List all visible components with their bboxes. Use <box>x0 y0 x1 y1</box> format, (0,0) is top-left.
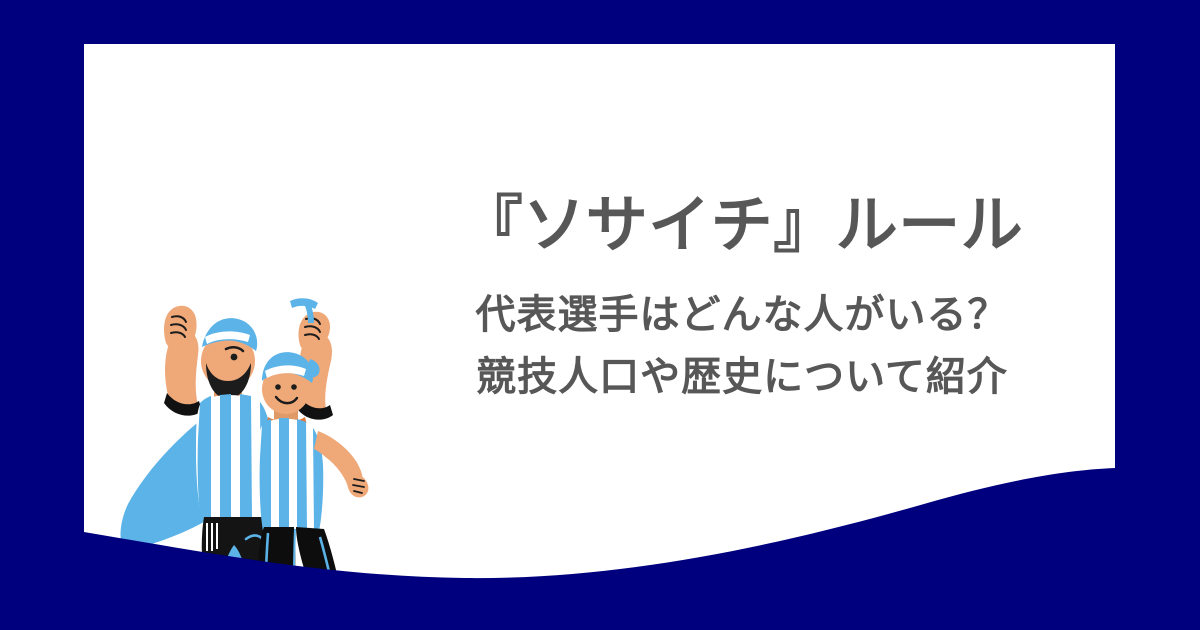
left-fan-eye <box>231 354 238 361</box>
subtitle-line-1: 代表選手はどんな人がいる？ <box>372 284 1112 346</box>
banner-root: 『ソサイチ』ルール 代表選手はどんな人がいる？ 競技人口や歴史について紹介 <box>0 0 1200 630</box>
right-fan-pants-left <box>257 527 296 586</box>
subtitle-line-2: 競技人口や歴史について紹介 <box>372 346 1112 408</box>
right-fan-eye-right <box>291 384 297 390</box>
right-fan-pants-right <box>296 527 346 586</box>
white-content-panel: 『ソサイチ』ルール 代表選手はどんな人がいる？ 競技人口や歴史について紹介 <box>84 44 1115 586</box>
left-fan-leg-back <box>172 571 226 586</box>
fans-illustration <box>106 289 396 586</box>
fans-illustration-svg <box>106 289 406 586</box>
text-block: 『ソサイチ』ルール 代表選手はどんな人がいる？ 競技人口や歴史について紹介 <box>372 44 1112 586</box>
page-subtitle: 代表選手はどんな人がいる？ 競技人口や歴史について紹介 <box>372 284 1112 408</box>
rattle-noisemaker <box>290 298 318 309</box>
right-fan-eye-left <box>275 384 281 390</box>
page-title: 『ソサイチ』ルール <box>372 190 1112 261</box>
